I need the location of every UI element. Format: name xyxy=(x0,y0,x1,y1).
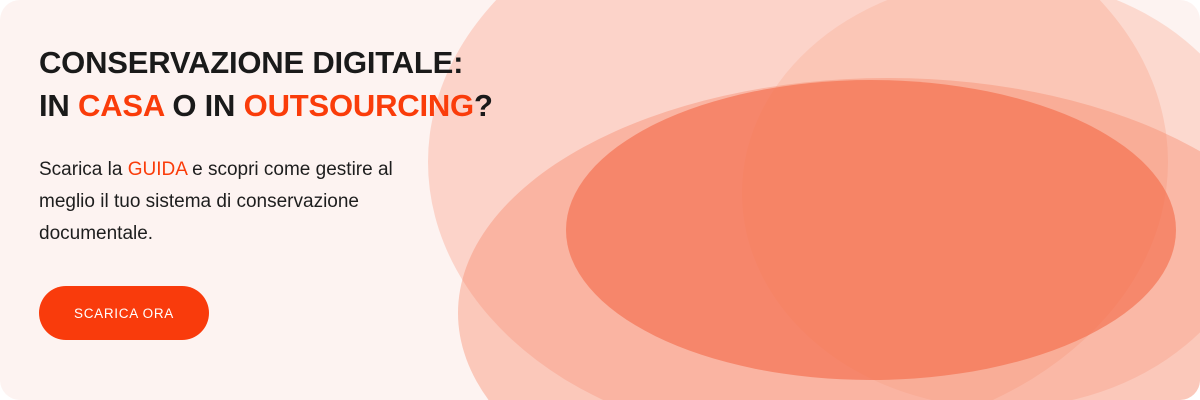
ellipse-wash-icon xyxy=(742,0,1200,400)
page-title: CONSERVAZIONE DIGITALE: IN CASA O IN OUT… xyxy=(39,0,599,127)
headline-text-in: IN xyxy=(39,88,78,123)
banner-subcopy: Scarica la GUIDA e scopri come gestire a… xyxy=(39,127,399,250)
headline-accent-outsourcing: OUTSOURCING xyxy=(244,88,474,123)
headline-question-mark: ? xyxy=(474,88,493,123)
subcopy-part-1: Scarica la xyxy=(39,159,128,180)
headline-text-o-in: O IN xyxy=(164,88,244,123)
promo-banner: CONSERVAZIONE DIGITALE: IN CASA O IN OUT… xyxy=(0,0,1200,400)
headline-line-1: CONSERVAZIONE DIGITALE: xyxy=(39,41,599,84)
download-now-button[interactable]: SCARICA ORA xyxy=(39,286,209,340)
subcopy-accent-guida: GUIDA xyxy=(128,159,187,180)
headline-accent-casa: CASA xyxy=(78,88,164,123)
ellipse-coral-core-icon xyxy=(566,80,1176,380)
headline-line-2: IN CASA O IN OUTSOURCING? xyxy=(39,84,599,127)
cta-container: SCARICA ORA xyxy=(39,250,599,340)
banner-content: CONSERVAZIONE DIGITALE: IN CASA O IN OUT… xyxy=(39,0,599,400)
